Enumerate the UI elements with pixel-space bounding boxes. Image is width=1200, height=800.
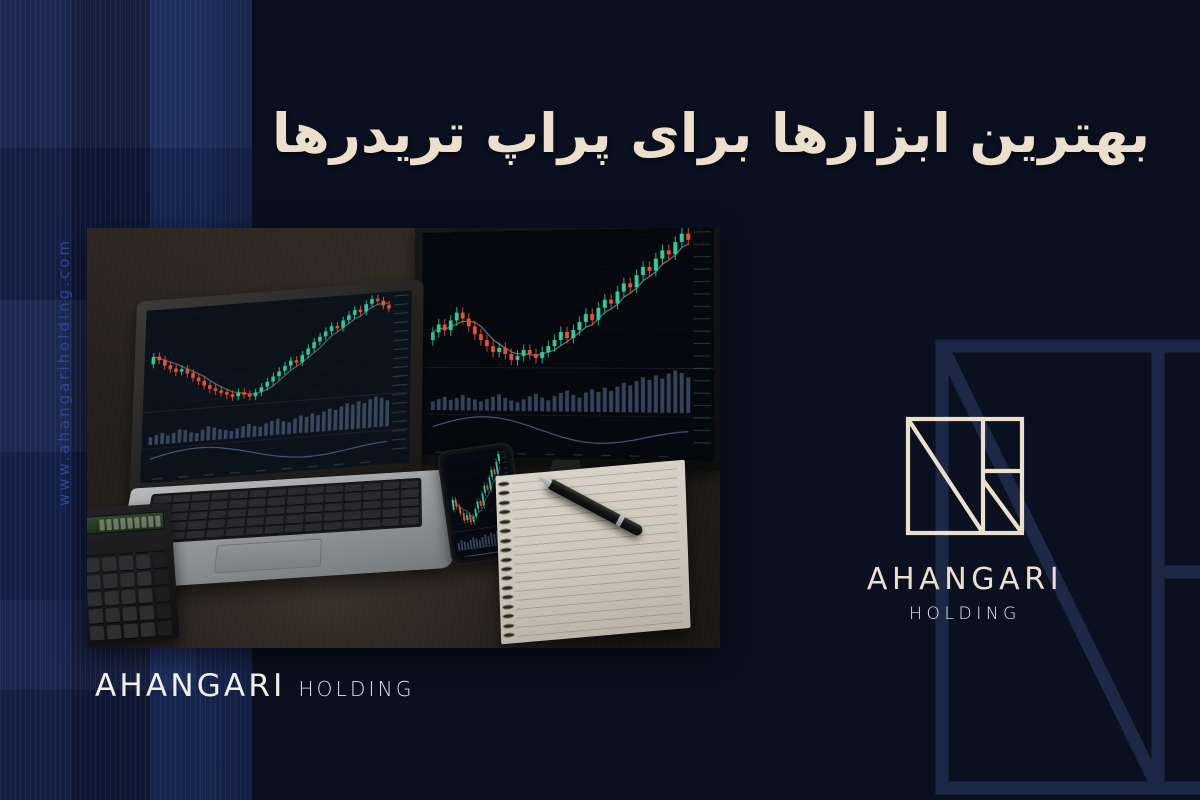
keyboard-key bbox=[230, 491, 248, 499]
spiral-coil bbox=[501, 566, 513, 572]
spiral-coil bbox=[502, 594, 514, 600]
calculator-key bbox=[107, 625, 122, 640]
keyboard-key bbox=[186, 530, 205, 539]
keyboard-key bbox=[188, 521, 207, 530]
lcd-segment bbox=[120, 517, 126, 528]
spiral-coil bbox=[501, 575, 513, 581]
calculator-key bbox=[157, 621, 172, 636]
keyboard-key bbox=[402, 480, 419, 488]
lcd-segment bbox=[106, 518, 112, 529]
banner-canvas: بهترین ابزارها برای پراپ تریدرها www.aha… bbox=[0, 0, 1200, 800]
keyboard-key bbox=[306, 495, 324, 503]
calculator-key bbox=[105, 608, 120, 623]
calculator-key bbox=[140, 622, 155, 637]
laptop-keyboard bbox=[143, 478, 422, 545]
spiral-coil bbox=[502, 613, 514, 619]
notepad-ruled-lines bbox=[512, 468, 683, 637]
calculator-key bbox=[138, 588, 153, 603]
wordmark-primary: AHANGARI bbox=[95, 668, 285, 704]
keyboard-key bbox=[325, 494, 342, 502]
keyboard-key bbox=[324, 521, 342, 530]
keyboard-key bbox=[343, 520, 361, 529]
spiral-coil bbox=[498, 481, 510, 487]
calculator-key bbox=[104, 591, 119, 606]
keyboard-key bbox=[305, 513, 323, 522]
keyboard-key bbox=[344, 511, 362, 520]
logo-lockup: AHANGARI HOLDING bbox=[820, 414, 1110, 624]
website-url-text: www.ahangariholding.com bbox=[55, 238, 73, 506]
keyboard-key bbox=[305, 504, 323, 512]
keyboard-key bbox=[402, 498, 419, 506]
calculator-key bbox=[151, 536, 166, 551]
keyboard-key bbox=[211, 492, 229, 500]
keyboard-key bbox=[324, 512, 342, 521]
monitor-screen bbox=[422, 228, 714, 461]
keyboard-key bbox=[268, 498, 286, 506]
calculator-key bbox=[90, 626, 105, 641]
calculator-key bbox=[87, 592, 102, 607]
keyboard-key bbox=[265, 525, 283, 534]
keyboard-key bbox=[345, 484, 362, 492]
keyboard-key bbox=[172, 494, 190, 502]
spiral-coil bbox=[503, 623, 515, 629]
calculator-key bbox=[101, 540, 116, 555]
spiral-coil bbox=[498, 490, 510, 496]
keyboard-key bbox=[248, 499, 266, 507]
calculator-key bbox=[87, 558, 100, 573]
page-title: بهترین ابزارها برای پراپ تریدرها bbox=[330, 100, 1150, 168]
logo-subtitle: HOLDING bbox=[820, 604, 1110, 624]
calculator-key bbox=[121, 589, 136, 604]
calculator-key bbox=[120, 573, 135, 588]
keyboard-key bbox=[364, 483, 381, 491]
keyboard-key bbox=[267, 507, 285, 516]
keyboard-key bbox=[287, 496, 305, 504]
keyboard-key bbox=[285, 524, 303, 533]
keyboard-key bbox=[402, 507, 419, 516]
calculator-key bbox=[118, 539, 133, 554]
keyboard-key bbox=[304, 523, 322, 532]
keyboard-key bbox=[207, 519, 226, 528]
spiral-coil bbox=[499, 528, 511, 534]
calculator-display bbox=[87, 511, 165, 535]
calculator-key bbox=[119, 556, 134, 571]
keyboard-key bbox=[226, 528, 244, 537]
keyboard-key bbox=[325, 503, 343, 511]
calculator-key bbox=[136, 554, 151, 569]
trading-desk-photo bbox=[87, 228, 720, 648]
calculator-key bbox=[103, 574, 118, 589]
keyboard-key bbox=[286, 505, 304, 513]
spiral-coil bbox=[503, 632, 515, 638]
laptop-screen bbox=[140, 290, 412, 483]
keyboard-key bbox=[363, 519, 381, 528]
spiral-coil bbox=[499, 519, 511, 525]
keyboard-key bbox=[189, 511, 208, 520]
lcd-segment bbox=[141, 516, 147, 527]
calculator-key bbox=[122, 606, 137, 621]
spiral-coil bbox=[501, 585, 513, 591]
keyboard-key bbox=[227, 518, 245, 527]
keyboard-key bbox=[382, 518, 399, 527]
keyboard-key bbox=[382, 509, 399, 518]
keyboard-key bbox=[206, 529, 225, 538]
keyboard-key bbox=[245, 526, 263, 535]
spiral-coil bbox=[500, 547, 512, 553]
lcd-segment bbox=[134, 517, 140, 528]
keyboard-key bbox=[344, 502, 361, 510]
laptop-lid bbox=[129, 279, 423, 498]
keyboard-key bbox=[210, 501, 228, 509]
keyboard-key bbox=[208, 510, 226, 519]
spiral-coil bbox=[498, 500, 510, 506]
keyboard-key bbox=[266, 516, 284, 525]
keyboard-key bbox=[307, 486, 325, 494]
keyboard-key bbox=[171, 503, 190, 511]
lcd-segment bbox=[127, 517, 133, 528]
calculator-key bbox=[124, 623, 139, 638]
calculator-key bbox=[154, 570, 169, 585]
lcd-segment bbox=[148, 516, 154, 527]
keyboard-key bbox=[246, 517, 264, 526]
keyboard-key bbox=[382, 490, 399, 498]
keyboard-key bbox=[247, 508, 265, 517]
keyboard-key bbox=[228, 509, 246, 518]
monitor bbox=[409, 228, 720, 468]
keyboard-key bbox=[344, 493, 361, 501]
keyboard-key bbox=[288, 487, 306, 495]
keyboard-key bbox=[363, 501, 380, 509]
keyboard-key bbox=[363, 492, 380, 500]
calculator-key bbox=[155, 587, 170, 602]
calculator-key bbox=[87, 541, 99, 556]
wordmark-secondary: HOLDING bbox=[298, 677, 414, 701]
calculator-key bbox=[153, 553, 168, 568]
calculator-key bbox=[102, 557, 117, 572]
spiral-coil bbox=[499, 509, 511, 515]
keyboard-key bbox=[402, 517, 419, 526]
keyboard-key bbox=[268, 489, 286, 497]
keyboard-key bbox=[229, 500, 247, 508]
keyboard-key bbox=[402, 489, 419, 497]
calculator-key bbox=[88, 609, 103, 624]
keyboard-key bbox=[249, 490, 267, 498]
spiral-notepad bbox=[495, 460, 690, 645]
calculator-key bbox=[135, 537, 150, 552]
logo-name: AHANGARI bbox=[820, 562, 1110, 597]
keyboard-key bbox=[382, 499, 399, 507]
spiral-coil bbox=[500, 538, 512, 544]
lcd-segment bbox=[155, 515, 161, 526]
calculator-key bbox=[137, 571, 152, 586]
calculator-key bbox=[139, 605, 154, 620]
calculator-key bbox=[87, 575, 101, 590]
keyboard-key bbox=[192, 493, 210, 501]
keyboard-key bbox=[285, 515, 303, 524]
keyboard-key bbox=[190, 502, 208, 510]
laptop-trackpad bbox=[214, 538, 322, 573]
ahangari-ah-monogram-icon bbox=[903, 414, 1027, 538]
wordmark-bottom-left: AHANGARI HOLDING bbox=[95, 668, 415, 704]
spiral-coil bbox=[502, 604, 514, 610]
lcd-segment bbox=[113, 518, 119, 529]
keyboard-key bbox=[363, 510, 380, 519]
calculator-keypad bbox=[87, 536, 172, 640]
calculator-key bbox=[156, 604, 171, 619]
keyboard-key bbox=[326, 485, 343, 493]
spiral-coil bbox=[500, 557, 512, 563]
keyboard-key bbox=[169, 513, 188, 522]
website-url-vertical: www.ahangariholding.com bbox=[44, 238, 84, 668]
lcd-segment bbox=[99, 519, 105, 530]
keyboard-key bbox=[383, 482, 400, 490]
calculator bbox=[87, 503, 180, 645]
